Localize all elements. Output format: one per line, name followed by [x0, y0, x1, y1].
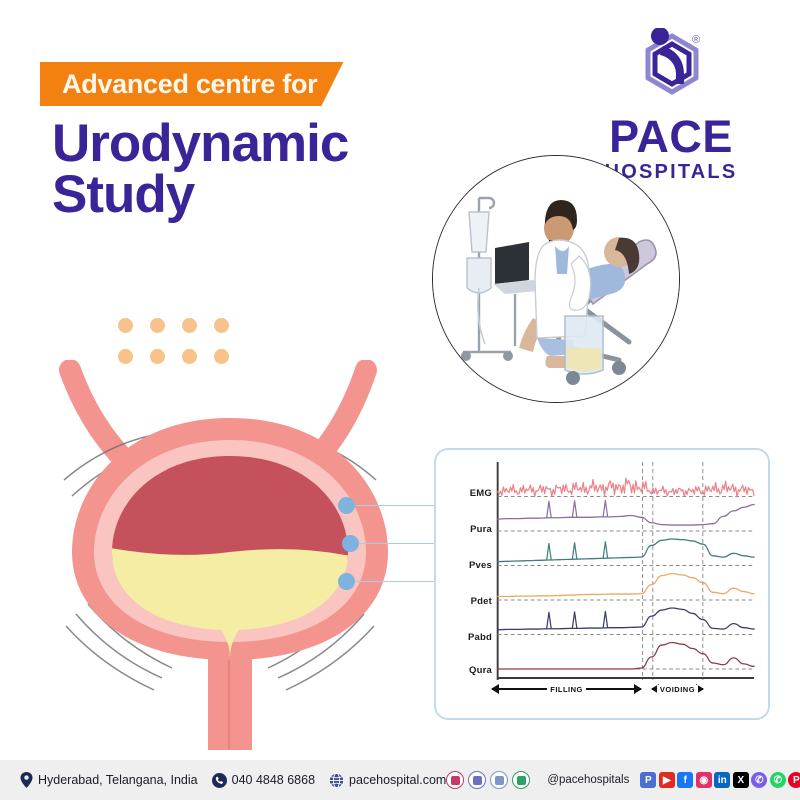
footer-website[interactable]: pacehospital.com: [329, 773, 446, 788]
hexagon-person-icon: ®: [576, 28, 766, 114]
trace-label-pabd: Pabd: [468, 632, 492, 643]
chart-plot-area: [492, 462, 756, 680]
location-pin-icon: [20, 772, 33, 788]
trace-label-emg: EMG: [470, 488, 492, 499]
footer-location-text: Hyderabad, Telangana, India: [38, 773, 198, 787]
pace-logo: ® PACE HOSPITALS: [576, 28, 766, 184]
decor-dot: [182, 318, 197, 333]
messenger-icon[interactable]: ✆: [751, 772, 767, 788]
trace-label-pdet: Pdet: [471, 596, 492, 607]
banner-text: Advanced centre for: [62, 69, 317, 100]
footer-phone[interactable]: 040 4848 6868: [212, 773, 315, 788]
footer-phone-text: 040 4848 6868: [232, 773, 315, 787]
footer-bar: Hyderabad, Telangana, India 040 4848 686…: [0, 760, 800, 800]
accreditation-badge-nabl: [468, 771, 486, 789]
decorative-dot-grid: [118, 318, 229, 364]
practo-icon[interactable]: P: [640, 772, 656, 788]
urodynamic-chart-panel: EMG Pura Pves Pdet Pabd Qura FILLING: [434, 448, 770, 720]
connector-dot-2: [342, 535, 359, 552]
youtube-icon[interactable]: ▶: [659, 772, 675, 788]
decor-dot: [118, 318, 133, 333]
instagram-icon[interactable]: ◉: [696, 772, 712, 788]
phase-filling: FILLING: [492, 682, 641, 696]
globe-icon: [329, 773, 344, 788]
page-title: Urodynamic Study: [52, 118, 348, 221]
trace-label-pves: Pves: [469, 560, 492, 571]
procedure-photo: [432, 155, 680, 403]
decor-dot: [214, 318, 229, 333]
phase-voiding-label: VOIDING: [657, 685, 698, 694]
banner-advanced-centre: Advanced centre for: [40, 62, 343, 106]
trace-label-qura: Qura: [469, 665, 492, 676]
footer-location: Hyderabad, Telangana, India: [20, 772, 198, 788]
phase-voiding: VOIDING: [652, 682, 703, 696]
pinterest-icon[interactable]: P: [788, 772, 800, 788]
social-icon-row: P▶f◉inX✆✆P@Q▤≋: [640, 772, 800, 788]
accreditation-badge-nabh: [446, 771, 464, 789]
trace-label-pura: Pura: [470, 524, 492, 535]
accreditation-badge-iso: [490, 771, 508, 789]
linkedin-icon[interactable]: in: [714, 772, 730, 788]
phone-icon: [212, 773, 227, 788]
facebook-icon[interactable]: f: [677, 772, 693, 788]
connector-dot-1: [338, 497, 355, 514]
social-handle: @pacehospitals: [547, 774, 629, 786]
accreditation-badge-green: [512, 771, 530, 789]
whatsapp-icon[interactable]: ✆: [770, 772, 786, 788]
connector-dot-3: [338, 573, 355, 590]
x-twitter-icon[interactable]: X: [733, 772, 749, 788]
poster-root: Advanced centre for Urodynamic Study ® P…: [0, 0, 800, 800]
footer-website-text: pacehospital.com: [349, 773, 446, 787]
logo-name: PACE: [576, 114, 766, 159]
chart-trace-labels: EMG Pura Pves Pdet Pabd Qura: [448, 460, 492, 676]
chart-phase-row: FILLING VOIDING: [492, 674, 756, 704]
decor-dot: [150, 318, 165, 333]
accreditation-badges: [446, 771, 530, 789]
phase-filling-label: FILLING: [547, 685, 586, 694]
registered-mark: ®: [692, 34, 700, 46]
